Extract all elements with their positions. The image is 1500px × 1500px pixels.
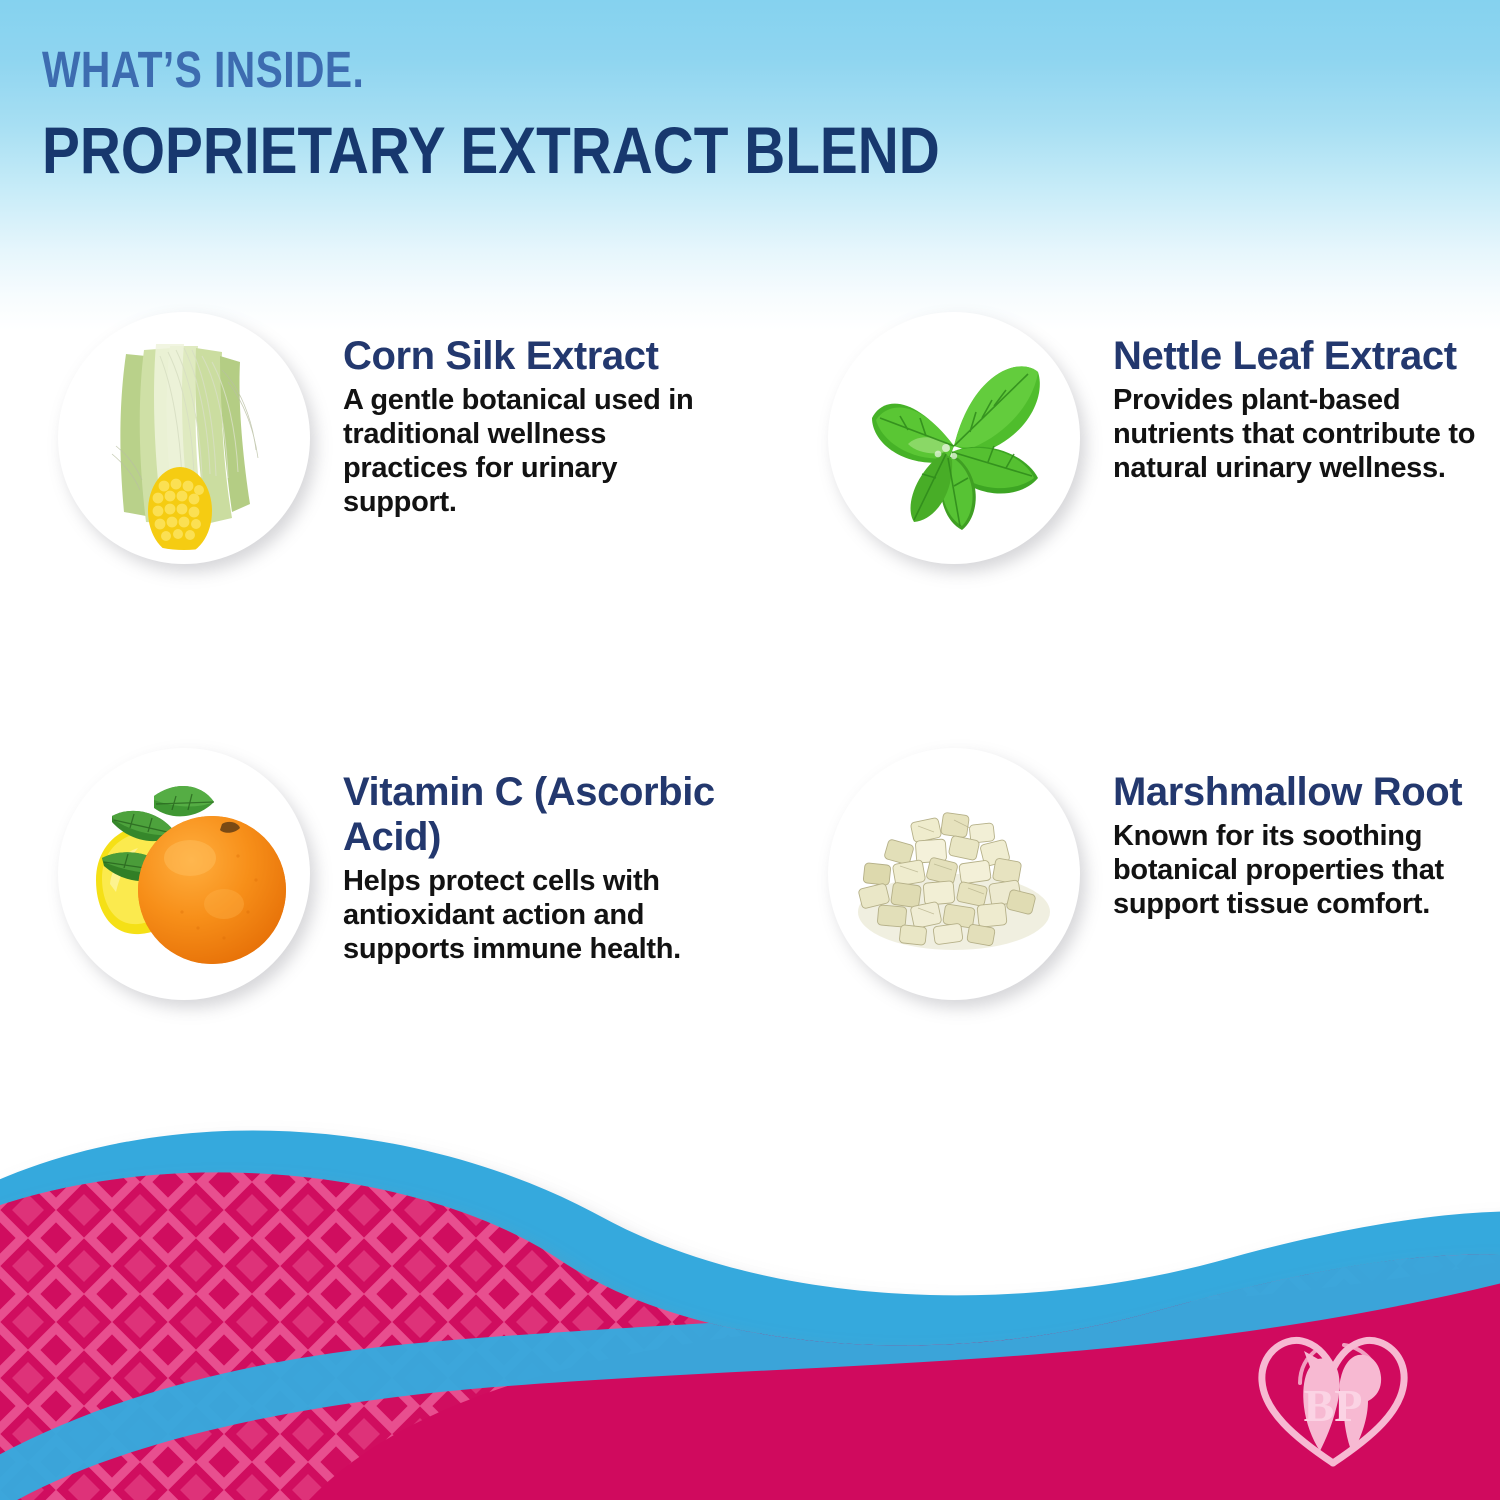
brand-logo: BP bbox=[1248, 1325, 1418, 1475]
ingredient-title: Vitamin C (Ascorbic Acid) bbox=[343, 770, 738, 860]
ingredient-title: Marshmallow Root bbox=[1113, 770, 1478, 815]
ingredient-description: Helps protect cells with antioxidant act… bbox=[343, 864, 738, 966]
ingredient-description: Provides plant-based nutrients that cont… bbox=[1113, 383, 1478, 485]
corn-silk-thumbnail bbox=[58, 312, 310, 564]
ingredient-grid: Corn Silk Extract A gentle botanical use… bbox=[0, 0, 1500, 1060]
nettle-leaf-thumbnail bbox=[828, 312, 1080, 564]
marshmallow-root-thumbnail bbox=[828, 748, 1080, 1000]
corn-silk-photo-icon bbox=[72, 326, 296, 550]
ingredient-description: Known for its soothing botanical propert… bbox=[1113, 819, 1478, 921]
infographic-page: WHAT’S INSIDE. PROPRIETARY EXTRACT BLEND bbox=[0, 0, 1500, 1500]
ingredient-title: Corn Silk Extract bbox=[343, 334, 738, 379]
cat-dog-heart-logo-icon: BP bbox=[1248, 1325, 1418, 1475]
nettle-leaf-photo-icon bbox=[842, 326, 1066, 550]
logo-monogram: BP bbox=[1304, 1380, 1363, 1431]
marshmallow-root-photo-icon bbox=[842, 762, 1066, 986]
ingredient-title: Nettle Leaf Extract bbox=[1113, 334, 1478, 379]
ingredient-description: A gentle botanical used in traditional w… bbox=[343, 383, 738, 519]
orange-lemon-thumbnail bbox=[58, 748, 310, 1000]
orange-lemon-photo-icon bbox=[72, 762, 296, 986]
